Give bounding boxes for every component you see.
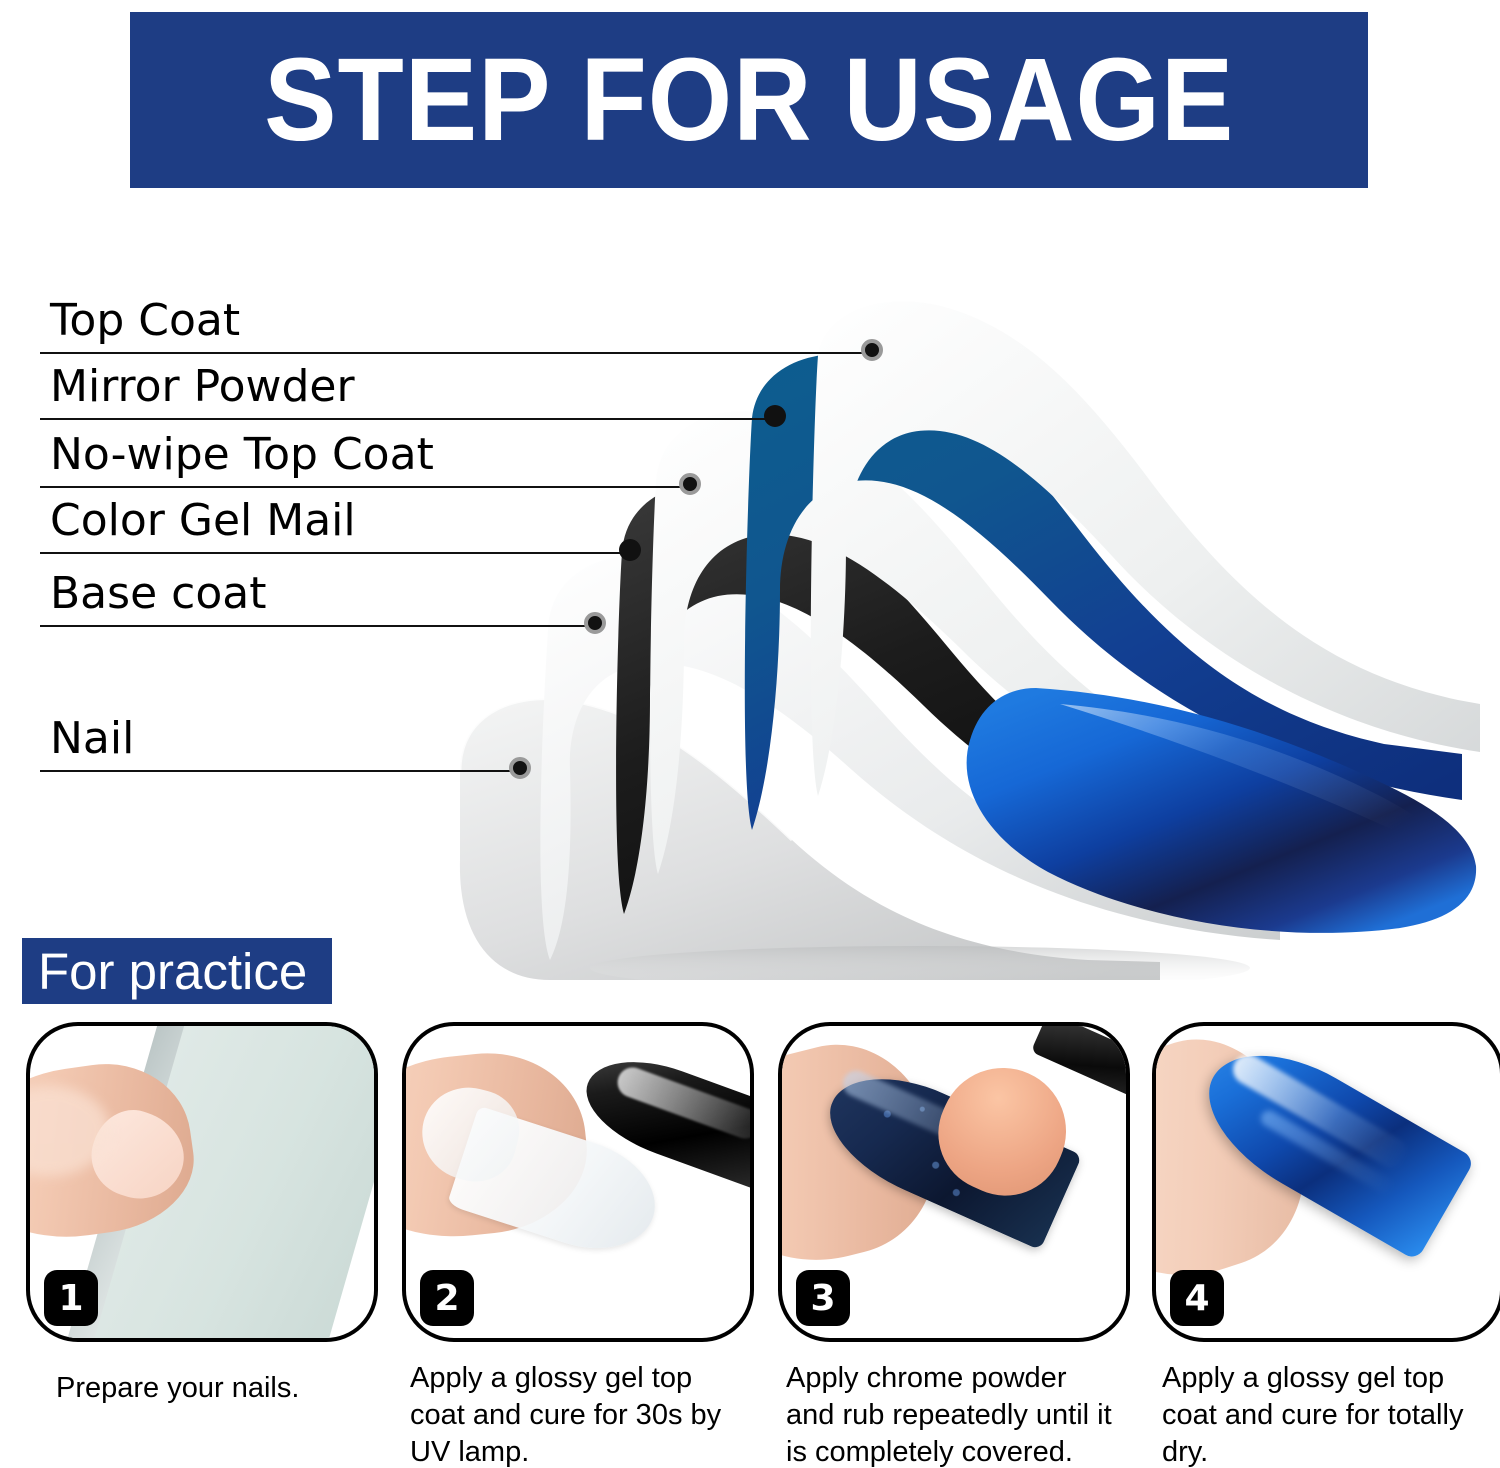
leader-line-no-wipe-top-coat [40,486,690,488]
leader-dot-top-coat [861,339,883,361]
legend-label-nail: Nail [50,713,134,764]
card-caption-3: Apply chrome powder and rub repeatedly u… [786,1360,1116,1468]
leader-dot-no-wipe-top-coat [679,473,701,495]
leader-line-color-gel-mail [40,552,630,554]
infographic-page: STEP FOR USAGE [0,0,1500,1468]
practice-title: For practice [38,946,307,997]
card-caption-4: Apply a glossy gel top coat and cure for… [1162,1360,1492,1468]
layered-nail-diagram [400,300,1480,980]
leader-dot-mirror-powder [764,405,786,427]
card-badge-4: 4 [1170,1270,1224,1326]
practice-card-1[interactable]: 1 [26,1022,378,1342]
practice-banner: For practice [22,938,332,1004]
title-banner: STEP FOR USAGE [130,12,1368,188]
legend-label-top-coat: Top Coat [50,295,240,346]
card-caption-2: Apply a glossy gel top coat and cure for… [410,1360,740,1468]
legend-label-mirror-powder: Mirror Powder [50,361,355,412]
practice-card-4[interactable]: 4 [1152,1022,1500,1342]
leader-line-mirror-powder [40,418,775,420]
card-badge-1: 1 [44,1270,98,1326]
leader-line-nail [40,770,520,772]
leader-dot-nail [509,757,531,779]
card-badge-3: 3 [796,1270,850,1326]
leader-dot-color-gel-mail [619,539,641,561]
practice-card-3[interactable]: 3 [778,1022,1130,1342]
legend-label-base-coat: Base coat [50,568,266,619]
legend-label-color-gel-mail: Color Gel Mail [50,495,356,546]
page-title: STEP FOR USAGE [264,41,1234,159]
leader-line-base-coat [40,625,595,627]
leader-dot-base-coat [584,612,606,634]
card-caption-1: Prepare your nails. [56,1370,386,1407]
leader-line-top-coat [40,352,872,354]
card-badge-2: 2 [420,1270,474,1326]
practice-card-2[interactable]: 2 [402,1022,754,1342]
legend-label-no-wipe-top-coat: No-wipe Top Coat [50,429,434,480]
